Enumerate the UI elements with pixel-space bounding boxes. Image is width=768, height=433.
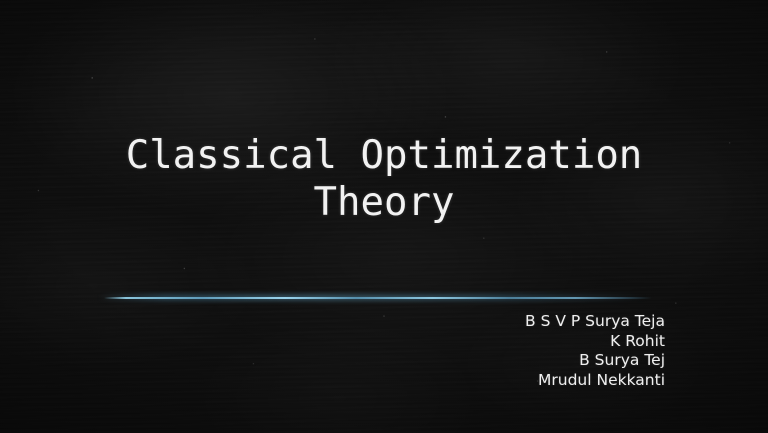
author-name: B Surya Tej (525, 351, 665, 371)
author-name: B S V P Surya Teja (525, 312, 665, 332)
author-name: K Rohit (525, 332, 665, 352)
slide-title-line-1: Classical Optimization (96, 132, 672, 179)
author-name: Mrudul Nekkanti (525, 371, 665, 391)
slide-title-line-2: Theory (96, 179, 672, 226)
author-list: B S V P Surya Teja K Rohit B Surya Tej M… (525, 312, 665, 390)
title-divider-rule (104, 296, 652, 299)
divider-line (104, 297, 652, 299)
title-slide: Classical Optimization Theory B S V P Su… (0, 0, 768, 433)
slide-title: Classical Optimization Theory (96, 132, 672, 226)
